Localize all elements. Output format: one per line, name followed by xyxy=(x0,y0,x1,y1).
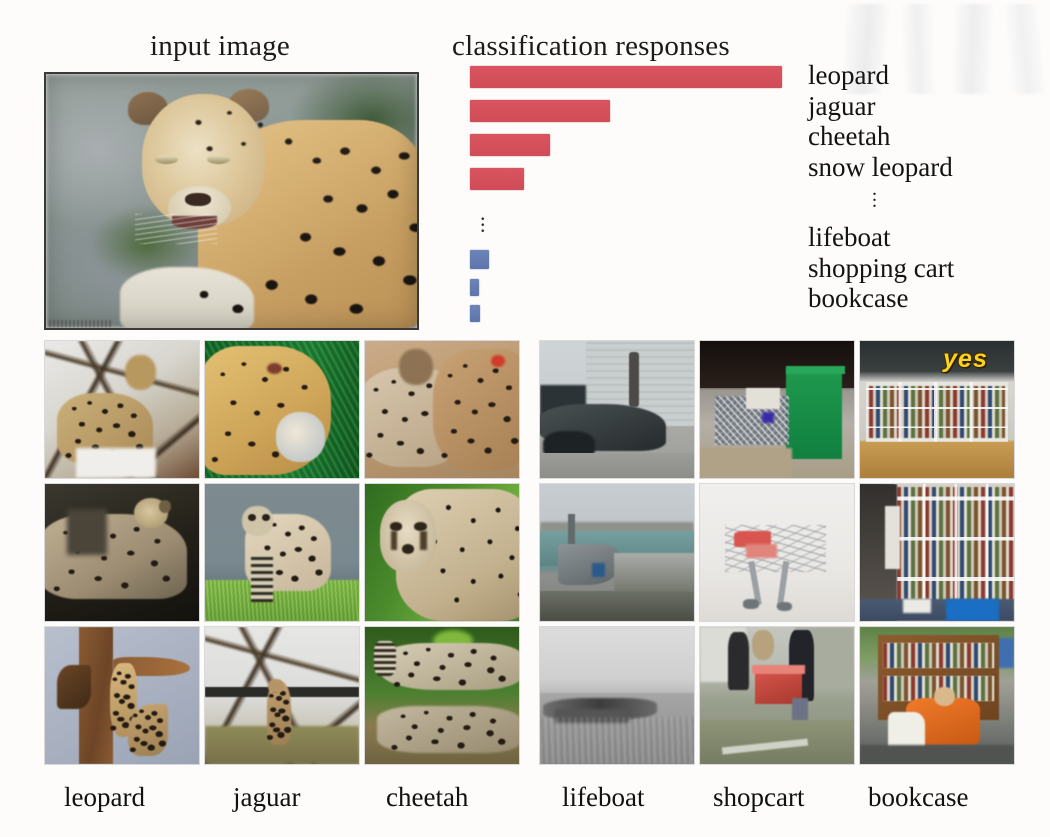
input-image-heading: input image xyxy=(150,30,290,63)
thumbnail-leopard-rock[interactable] xyxy=(44,483,200,622)
object-thumbnail-grid: yes xyxy=(539,340,1015,765)
thumbnail-bookcase-yes[interactable]: yes xyxy=(859,340,1015,479)
bottom-label-cheetah: cheetah xyxy=(386,782,468,813)
class-label-leopard: leopard xyxy=(808,60,1050,91)
bar-leopard xyxy=(470,66,782,88)
class-label-list: leopard jaguar cheetah snow leopard ... … xyxy=(808,60,1050,314)
classification-responses-heading: classification responses xyxy=(452,30,730,63)
bottom-label-bookcase: bookcase xyxy=(868,782,968,813)
leopard-input-photo xyxy=(46,74,417,328)
bottom-label-lifeboat: lifeboat xyxy=(562,782,644,813)
class-label-jaguar: jaguar xyxy=(808,91,1050,122)
labels-ellipsis-icon: ... xyxy=(808,182,1050,222)
thumbnail-cheetah-sand[interactable] xyxy=(364,340,520,479)
thumbnail-shopcart-carried[interactable] xyxy=(699,626,855,765)
thumbnail-jaguar-bare-tree[interactable] xyxy=(204,626,360,765)
photo-credit-watermark xyxy=(49,320,111,327)
thumbnail-jaguar-grass[interactable] xyxy=(204,483,360,622)
bar-bookcase xyxy=(470,305,480,322)
bars-ellipsis-icon: ... xyxy=(480,210,486,228)
thumbnail-bookcase-carried[interactable] xyxy=(859,626,1015,765)
thumbnail-lifeboat-warehouse[interactable] xyxy=(539,340,695,479)
yes-overlay-text: yes xyxy=(943,345,988,374)
thumbnail-leopard-trunk[interactable] xyxy=(44,626,200,765)
class-label-shopping-cart: shopping cart xyxy=(808,253,1050,284)
thumbnail-lifeboat-harbour[interactable] xyxy=(539,483,695,622)
thumbnail-cheetah-field[interactable] xyxy=(364,626,520,765)
thumbnail-lifeboat-grayscale[interactable] xyxy=(539,626,695,765)
class-label-bookcase: bookcase xyxy=(808,283,1050,314)
class-label-snow-leopard: snow leopard xyxy=(808,152,1050,183)
class-label-lifeboat: lifeboat xyxy=(808,222,1050,253)
input-image-frame xyxy=(44,72,419,330)
bottom-label-leopard: leopard xyxy=(64,782,145,813)
animal-thumbnail-grid xyxy=(44,340,520,765)
thumbnail-cheetah-green[interactable] xyxy=(364,483,520,622)
bar-cheetah xyxy=(470,134,550,156)
bottom-label-jaguar: jaguar xyxy=(233,782,300,813)
bottom-label-shopcart: shopcart xyxy=(713,782,804,813)
bar-snow-leopard xyxy=(470,168,524,190)
thumbnail-shopcart-dumpster[interactable] xyxy=(699,340,855,479)
thumbnail-jaguar-foliage[interactable] xyxy=(204,340,360,479)
bar-shopping-cart xyxy=(470,279,479,296)
class-label-cheetah: cheetah xyxy=(808,121,1050,152)
thumbnail-shopcart-overturned[interactable] xyxy=(699,483,855,622)
bar-lifeboat xyxy=(470,250,489,269)
bar-jaguar xyxy=(470,100,610,122)
thumbnail-leopard-tree[interactable] xyxy=(44,340,200,479)
thumbnail-bookcase-room[interactable] xyxy=(859,483,1015,622)
